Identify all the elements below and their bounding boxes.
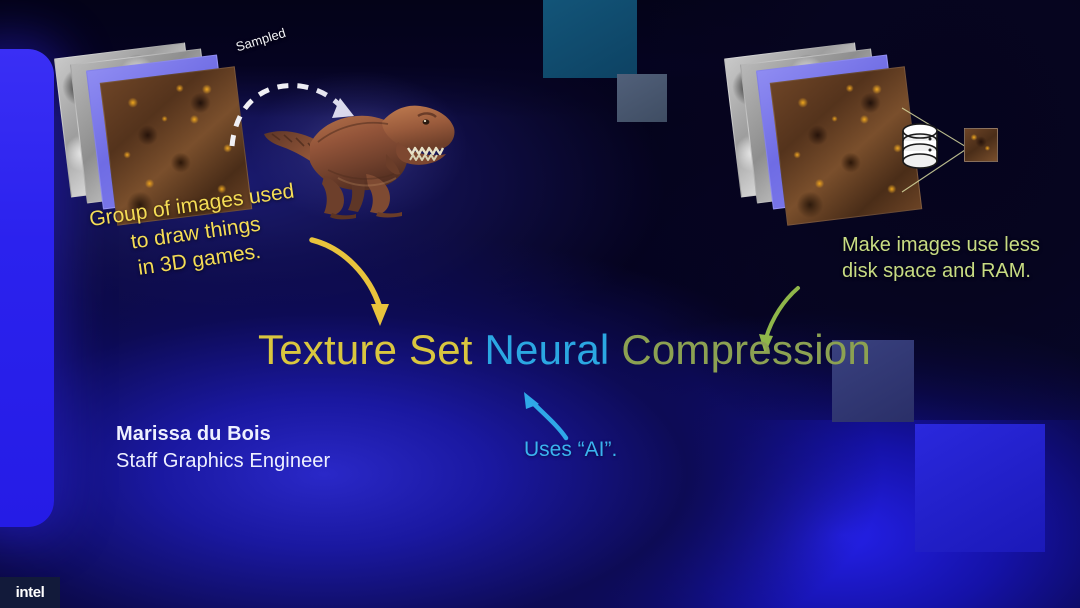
right-annotation-line-2: disk space and RAM. bbox=[842, 258, 1057, 284]
speaker-role: Staff Graphics Engineer bbox=[116, 448, 330, 475]
speaker-block: Marissa du Bois Staff Graphics Engineer bbox=[116, 421, 330, 475]
speaker-name: Marissa du Bois bbox=[116, 421, 330, 448]
compressed-texture-thumbnail bbox=[964, 128, 998, 162]
ai-annotation: Uses “AI”. bbox=[524, 438, 617, 462]
right-annotation-line-1: Make images use less bbox=[842, 232, 1057, 258]
slide-canvas: Sampled bbox=[0, 0, 1080, 608]
database-icon bbox=[898, 122, 942, 170]
decor-square-teal bbox=[543, 0, 637, 78]
title-part-neural: Neural bbox=[485, 326, 622, 373]
title-part-texture-set: Texture Set bbox=[258, 326, 485, 373]
yellow-curved-arrow bbox=[308, 232, 418, 334]
decor-square-slate bbox=[617, 74, 667, 122]
title-part-compression: Compression bbox=[621, 326, 871, 373]
intel-logo: intel bbox=[0, 577, 60, 608]
decor-square-blue bbox=[915, 424, 1045, 552]
intel-logo-text: intel bbox=[16, 584, 45, 601]
right-annotation: Make images use less disk space and RAM. bbox=[842, 232, 1057, 285]
decor-left-blue-panel bbox=[0, 49, 54, 527]
cyan-curved-arrow bbox=[508, 384, 588, 444]
page-title: Texture Set Neural Compression bbox=[258, 326, 871, 374]
